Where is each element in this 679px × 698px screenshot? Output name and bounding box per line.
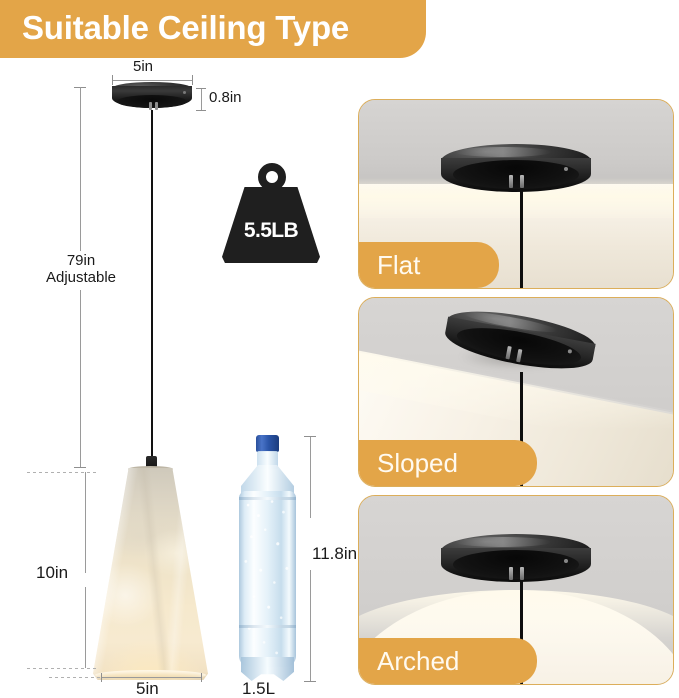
- canopy-height-tick-top: [196, 88, 206, 89]
- canopy-terminal-post: [149, 102, 152, 110]
- canopy-highlight: [455, 147, 551, 157]
- canopy-terminal-post: [155, 102, 158, 110]
- pendant-lamp-shade: [93, 468, 208, 680]
- water-bottle-icon: [236, 435, 298, 681]
- canopy-inner-cavity: [117, 95, 187, 108]
- panel-label-tab-flat: Flat: [359, 242, 499, 288]
- ceiling-type-panel-arched[interactable]: Arched: [358, 495, 674, 685]
- product-dimension-diagram: 5in 0.8in 5.5LB 79in: [0, 58, 350, 694]
- shade-top-extension-line: [27, 472, 99, 473]
- ceiling-type-panel-sloped[interactable]: Sloped: [358, 297, 674, 487]
- bottle-cap: [256, 435, 279, 452]
- weight-icon: 5.5LB: [222, 163, 320, 263]
- shade-height-dim-line-lower: [85, 587, 86, 668]
- ceiling-canopy-icon: [441, 144, 591, 204]
- shade-height-dim-line-upper: [85, 472, 86, 573]
- weight-ring-handle: [258, 163, 286, 191]
- bottle-condensation-texture: [239, 491, 296, 667]
- canopy-width-tick-right: [192, 75, 193, 85]
- bottle-base: [241, 657, 294, 681]
- cord-length-dim-line-upper: [80, 87, 81, 251]
- bottle-height-tick-top: [304, 436, 316, 437]
- canopy-inner-cavity: [453, 160, 579, 189]
- bottle-height-dim-line-upper: [310, 436, 311, 518]
- bottle-body: [239, 491, 296, 667]
- panel-label-flat: Flat: [359, 250, 446, 280]
- canopy-height-tick-bottom: [196, 110, 206, 111]
- shade-width-tick-left: [101, 673, 102, 682]
- canopy-terminal-post: [509, 567, 513, 580]
- cord-length-label: 79in Adjustable: [39, 252, 123, 286]
- shade-marble-texture: [93, 468, 208, 680]
- bottle-ridge: [239, 625, 296, 628]
- weight-label: 5.5LB: [222, 219, 320, 243]
- canopy-width-label: 5in: [133, 58, 153, 75]
- shade-width-tick-right: [201, 673, 202, 682]
- shade-height-label: 10in: [36, 564, 68, 581]
- shade-bottom-width-label: 5in: [136, 680, 159, 697]
- canopy-width-dim-line: [112, 80, 193, 81]
- panel-label-tab-sloped: Sloped: [359, 440, 537, 486]
- canopy-terminal-post: [509, 175, 513, 188]
- hanging-cord: [151, 110, 153, 462]
- ceiling-canopy-icon: [112, 82, 192, 112]
- cord-length-tick-bottom: [74, 467, 86, 468]
- bottle-height-label: 11.8in: [312, 545, 357, 562]
- canopy-highlight: [455, 537, 551, 547]
- ceiling-canopy-icon: [441, 534, 591, 594]
- panel-label-tab-arched: Arched: [359, 638, 537, 684]
- canopy-screw-icon: [183, 91, 186, 94]
- canopy-terminal-post: [520, 175, 524, 188]
- hanging-cord: [520, 188, 523, 288]
- product-infographic: Suitable Ceiling Type 5in 0.8in 5.5: [0, 0, 679, 694]
- panel-label-sloped: Sloped: [359, 448, 484, 478]
- canopy-screw-icon: [564, 167, 568, 171]
- bottle-ridge: [239, 497, 296, 500]
- shade-bottom-extension-line: [27, 668, 99, 669]
- shade-width-extension-left: [49, 677, 101, 678]
- ceiling-type-panel-flat[interactable]: Flat: [358, 99, 674, 289]
- canopy-screw-icon: [564, 559, 568, 563]
- canopy-inner-cavity: [453, 550, 579, 579]
- bottle-height-dim-line-lower: [310, 570, 311, 681]
- shade-width-dim-line: [101, 677, 201, 678]
- cord-adjustable-value: Adjustable: [46, 269, 116, 286]
- bottle-volume-label: 1.5L: [242, 680, 275, 697]
- canopy-height-dim-line: [201, 88, 202, 110]
- canopy-terminal-post: [520, 567, 524, 580]
- cord-length-dim-line-lower: [80, 290, 81, 467]
- bottle-height-tick-bottom: [304, 681, 316, 682]
- cord-length-value: 79in: [67, 252, 95, 269]
- page-title: Suitable Ceiling Type: [22, 8, 349, 48]
- canopy-height-label: 0.8in: [209, 89, 242, 106]
- panel-label-arched: Arched: [359, 646, 485, 676]
- header-banner: Suitable Ceiling Type: [0, 0, 426, 58]
